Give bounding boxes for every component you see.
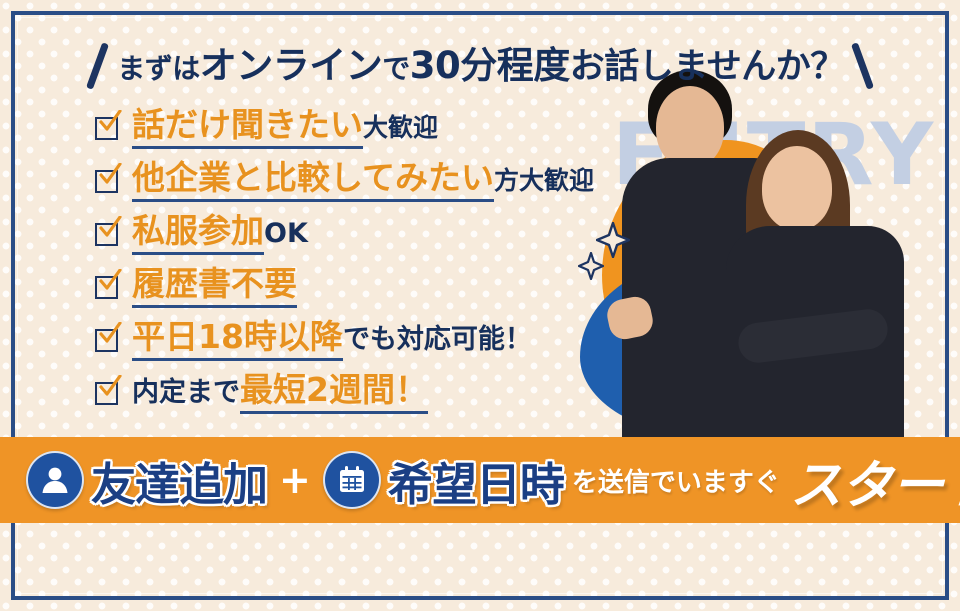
list-item-suffix: OK	[264, 220, 308, 250]
recruitment-banner: ENTRY まずはオンラインで30分程度お話し	[0, 0, 960, 611]
headline-row: まずはオンラインで30分程度お話しませんか？	[0, 38, 960, 94]
checkbox-icon	[95, 329, 118, 352]
checkbox-icon	[95, 223, 118, 246]
list-item-highlight: 他企業と比較してみたい	[132, 161, 494, 202]
list-item: 内定まで最短2週間！	[95, 373, 675, 415]
benefit-checklist: 話だけ聞きたい大歓迎 他企業と比較してみたい方大歓迎 私服参加OK	[95, 108, 675, 426]
cta-friend-add-label: 友達追加	[91, 448, 267, 513]
headline-de: で	[382, 52, 410, 85]
list-item-prefix: 内定まで	[132, 379, 240, 409]
cta-start-label: スタート！	[790, 443, 960, 518]
businesswoman-figure	[720, 130, 910, 437]
list-item: 話だけ聞きたい大歓迎	[95, 108, 675, 150]
list-item-text: 話だけ聞きたい大歓迎	[132, 108, 438, 149]
cta-send-text: を送信でいますぐ	[572, 462, 780, 499]
headline-main: オンライン	[200, 44, 383, 87]
list-item: 履歴書不要	[95, 267, 675, 309]
list-item-highlight: 最短2週間！	[240, 373, 428, 414]
slash-right-icon	[851, 42, 874, 89]
person-circle-icon	[26, 451, 84, 509]
list-item: 私服参加OK	[95, 214, 675, 256]
checkbox-icon	[95, 382, 118, 405]
cta-preferred-datetime-label: 希望日時	[388, 448, 564, 513]
slash-left-icon	[86, 42, 109, 89]
list-item-highlight: 私服参加	[132, 214, 264, 255]
checkbox-icon	[95, 276, 118, 299]
calendar-circle-icon	[323, 451, 381, 509]
list-item-text: 内定まで最短2週間！	[132, 373, 428, 414]
cta-content: 友達追加 + 希望日時 を送信でいますぐ スタート！	[0, 443, 960, 518]
list-item-text: 平日18時以降でも対応可能！	[132, 320, 532, 361]
list-item-text: 私服参加OK	[132, 214, 308, 255]
list-item-suffix: 大歓迎	[363, 115, 438, 143]
list-item: 他企業と比較してみたい方大歓迎	[95, 161, 675, 203]
list-item-highlight: 履歴書不要	[132, 267, 297, 308]
headline-duration: 30分程度	[410, 44, 570, 87]
list-item-highlight: 話だけ聞きたい	[132, 108, 363, 149]
headline-tail: お話しませんか？	[570, 47, 845, 87]
list-item-text: 履歴書不要	[132, 267, 297, 308]
checkbox-icon	[95, 117, 118, 140]
checkbox-icon	[95, 170, 118, 193]
woman-head	[762, 146, 832, 230]
cta-plus-sign: +	[279, 461, 311, 499]
headline-text: まずはオンラインで30分程度お話しませんか？	[117, 47, 844, 85]
cta-bar[interactable]: 友達追加 + 希望日時 を送信でいますぐ スタート！	[0, 437, 960, 523]
list-item-suffix: 方大歓迎	[494, 168, 594, 196]
list-item: 平日18時以降でも対応可能！	[95, 320, 675, 362]
headline-prefix: まずは	[117, 52, 200, 85]
list-item-suffix: でも対応可能！	[343, 326, 532, 356]
list-item-text: 他企業と比較してみたい方大歓迎	[132, 161, 594, 202]
list-item-highlight: 平日18時以降	[132, 320, 343, 361]
